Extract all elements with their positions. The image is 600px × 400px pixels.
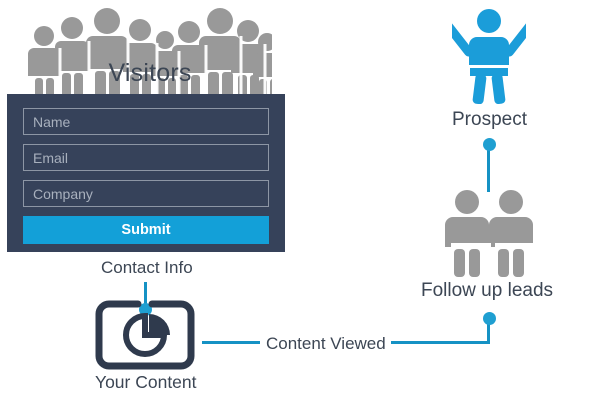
content-viewed-label: Content Viewed bbox=[266, 334, 386, 354]
content-viewed-riser-line bbox=[487, 322, 490, 344]
prospect-to-leads-line bbox=[487, 146, 490, 192]
content-viewed-connector-dot bbox=[483, 312, 496, 325]
lead-capture-form: Submit bbox=[7, 94, 285, 252]
name-input[interactable] bbox=[23, 108, 269, 135]
follow-up-leads-label: Follow up leads bbox=[421, 281, 553, 301]
submit-button[interactable]: Submit bbox=[23, 216, 269, 244]
visitors-label: Visitors bbox=[0, 58, 300, 88]
diagram-canvas: Visitors Submit Contact Info Your Conten… bbox=[0, 0, 600, 400]
celebrating-person-icon bbox=[452, 6, 526, 104]
email-input[interactable] bbox=[23, 144, 269, 171]
two-people-icon bbox=[443, 189, 535, 277]
your-content-label: Your Content bbox=[95, 372, 197, 392]
content-viewed-line-left bbox=[202, 341, 260, 344]
contact-info-label: Contact Info bbox=[101, 258, 193, 278]
content-viewed-line-right bbox=[391, 341, 489, 344]
pie-chart-in-frame-icon bbox=[95, 300, 195, 370]
company-input[interactable] bbox=[23, 180, 269, 207]
prospect-to-leads-dot bbox=[483, 138, 496, 151]
prospect-label: Prospect bbox=[452, 110, 527, 130]
